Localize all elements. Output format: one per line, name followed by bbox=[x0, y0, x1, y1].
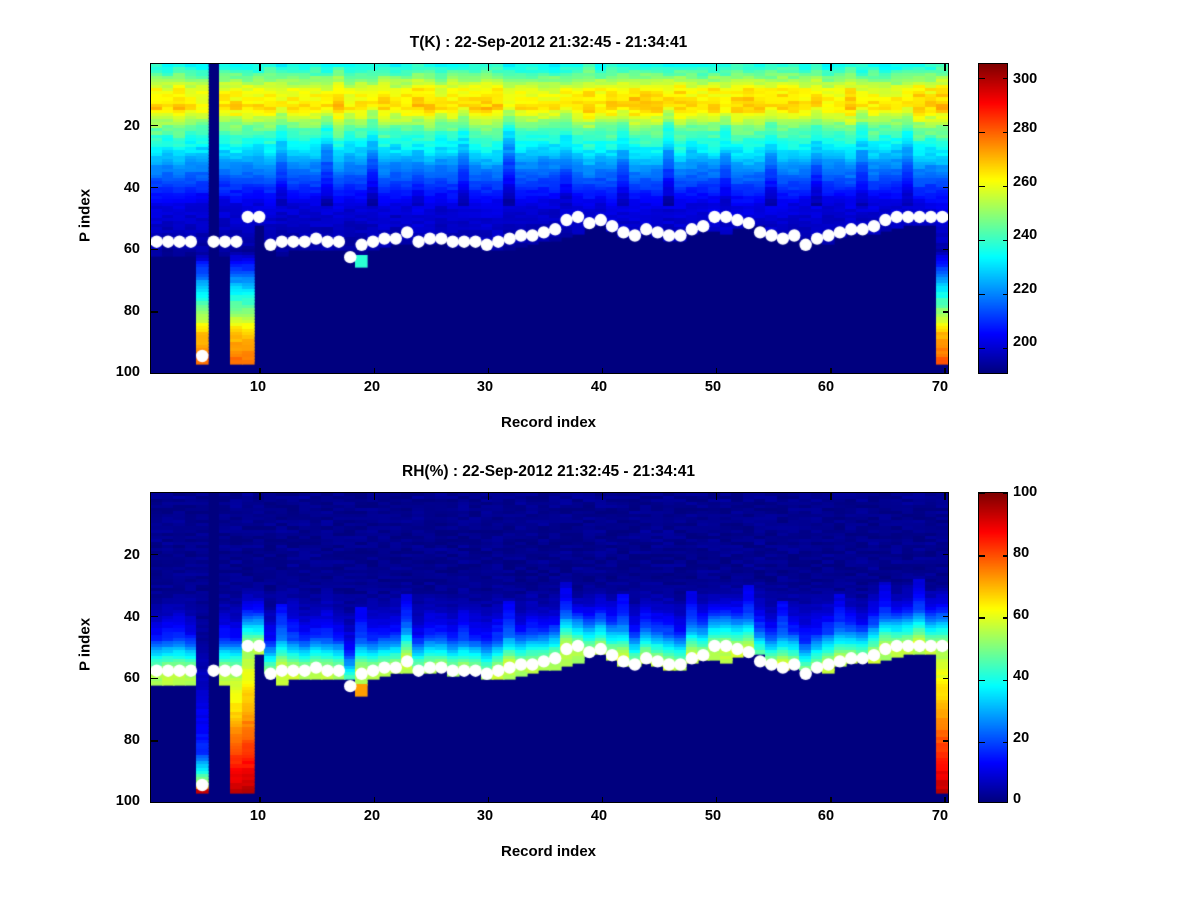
colorbar-tick-rh-2: 40 bbox=[1013, 668, 1029, 684]
x-tick-label-t-4: 50 bbox=[693, 379, 733, 395]
axis-tick bbox=[151, 616, 158, 617]
axis-tick bbox=[374, 797, 375, 803]
x-tick-label-t-1: 20 bbox=[352, 379, 392, 395]
x-tick-label-rh-0: 10 bbox=[238, 808, 278, 824]
axis-tick bbox=[259, 64, 260, 71]
axis-tick bbox=[151, 187, 158, 188]
axis-tick bbox=[943, 187, 949, 188]
colorbar-tick-mark bbox=[979, 555, 985, 556]
axis-tick bbox=[151, 125, 158, 126]
axis-tick bbox=[488, 493, 489, 500]
colorbar-temperature[interactable] bbox=[978, 63, 1008, 374]
x-axis-label-relative-humidity: Record index bbox=[150, 843, 947, 860]
axis-tick bbox=[830, 797, 831, 803]
x-axis-label-temperature: Record index bbox=[150, 414, 947, 431]
colorbar-tick-t-3: 260 bbox=[1013, 174, 1037, 190]
x-tick-label-rh-2: 30 bbox=[465, 808, 505, 824]
y-tick-label-rh-4: 100 bbox=[80, 793, 140, 809]
y-tick-label-t-4: 100 bbox=[80, 364, 140, 380]
colorbar-tick-mark bbox=[979, 186, 985, 187]
axis-tick bbox=[944, 64, 945, 71]
axis-tick bbox=[830, 64, 831, 71]
y-tick-label-t-2: 60 bbox=[88, 241, 140, 257]
colorbar-tick-mark bbox=[1003, 294, 1008, 295]
colorbar-tick-rh-5: 100 bbox=[1013, 484, 1037, 500]
axis-tick bbox=[716, 368, 717, 374]
x-tick-label-rh-4: 50 bbox=[693, 808, 733, 824]
axis-tick bbox=[259, 797, 260, 803]
axis-tick bbox=[151, 740, 158, 741]
x-tick-label-rh-3: 40 bbox=[579, 808, 619, 824]
axis-tick bbox=[943, 802, 949, 803]
axis-tick bbox=[716, 493, 717, 500]
colorbar-tick-mark bbox=[1003, 617, 1008, 618]
axis-tick bbox=[374, 64, 375, 71]
axis-tick bbox=[944, 368, 945, 374]
y-tick-label-t-3: 80 bbox=[88, 303, 140, 319]
heatmap-relative-humidity-canvas bbox=[151, 493, 948, 802]
heatmap-relative-humidity[interactable] bbox=[150, 492, 949, 803]
colorbar-tick-mark bbox=[979, 78, 985, 79]
axis-tick bbox=[716, 64, 717, 71]
x-tick-label-t-6: 70 bbox=[920, 379, 960, 395]
axis-tick bbox=[259, 368, 260, 374]
colorbar-tick-mark bbox=[979, 294, 985, 295]
axis-tick bbox=[259, 493, 260, 500]
axis-tick bbox=[151, 311, 158, 312]
colorbar-tick-mark bbox=[979, 680, 985, 681]
colorbar-relative-humidity[interactable] bbox=[978, 492, 1008, 803]
axis-tick bbox=[151, 802, 158, 803]
colorbar-tick-mark bbox=[1003, 555, 1008, 556]
colorbar-tick-mark bbox=[979, 240, 985, 241]
plot-title-temperature: T(K) : 22-Sep-2012 21:32:45 - 21:34:41 bbox=[150, 34, 947, 52]
axis-tick bbox=[830, 368, 831, 374]
colorbar-tick-mark bbox=[979, 348, 985, 349]
axis-tick bbox=[488, 368, 489, 374]
axis-tick bbox=[374, 493, 375, 500]
colorbar-tick-t-2: 240 bbox=[1013, 227, 1037, 243]
colorbar-tick-mark bbox=[979, 132, 985, 133]
plot-title-relative-humidity: RH(%) : 22-Sep-2012 21:32:45 - 21:34:41 bbox=[150, 463, 947, 481]
axis-tick bbox=[602, 797, 603, 803]
x-tick-label-t-2: 30 bbox=[465, 379, 505, 395]
axis-tick bbox=[602, 64, 603, 71]
axis-tick bbox=[943, 678, 949, 679]
y-axis-label-temperature: P index bbox=[77, 126, 94, 306]
y-tick-label-rh-2: 60 bbox=[88, 670, 140, 686]
colorbar-temperature-gradient bbox=[979, 64, 1007, 373]
x-tick-label-rh-6: 70 bbox=[920, 808, 960, 824]
axis-tick bbox=[943, 554, 949, 555]
y-tick-label-rh-3: 80 bbox=[88, 732, 140, 748]
colorbar-tick-mark bbox=[979, 742, 985, 743]
colorbar-relative-humidity-gradient bbox=[979, 493, 1007, 802]
colorbar-tick-mark bbox=[979, 493, 985, 494]
colorbar-tick-mark bbox=[1003, 742, 1008, 743]
axis-tick bbox=[151, 678, 158, 679]
axis-tick bbox=[943, 125, 949, 126]
y-tick-label-t-0: 20 bbox=[88, 118, 140, 134]
axis-tick bbox=[151, 554, 158, 555]
axis-tick bbox=[151, 373, 158, 374]
colorbar-tick-t-0: 200 bbox=[1013, 334, 1037, 350]
colorbar-tick-mark bbox=[979, 617, 985, 618]
axis-tick bbox=[602, 368, 603, 374]
axis-tick bbox=[943, 740, 949, 741]
x-tick-label-t-3: 40 bbox=[579, 379, 619, 395]
colorbar-tick-mark bbox=[1003, 186, 1008, 187]
axis-tick bbox=[943, 616, 949, 617]
colorbar-tick-t-4: 280 bbox=[1013, 120, 1037, 136]
colorbar-tick-rh-0: 0 bbox=[1013, 791, 1021, 807]
axis-tick bbox=[488, 797, 489, 803]
colorbar-tick-t-5: 300 bbox=[1013, 71, 1037, 87]
figure-canvas: T(K) : 22-Sep-2012 21:32:45 - 21:34:41 P… bbox=[0, 0, 1200, 900]
axis-tick bbox=[943, 311, 949, 312]
colorbar-tick-mark bbox=[1003, 240, 1008, 241]
heatmap-temperature[interactable] bbox=[150, 63, 949, 374]
colorbar-tick-mark bbox=[1003, 348, 1008, 349]
y-axis-label-relative-humidity: P index bbox=[77, 555, 94, 735]
colorbar-tick-rh-3: 60 bbox=[1013, 607, 1029, 623]
axis-tick bbox=[374, 368, 375, 374]
heatmap-temperature-canvas bbox=[151, 64, 948, 373]
colorbar-tick-rh-1: 20 bbox=[1013, 730, 1029, 746]
colorbar-tick-mark bbox=[1003, 493, 1008, 494]
colorbar-tick-mark bbox=[1003, 78, 1008, 79]
axis-tick bbox=[830, 493, 831, 500]
y-tick-label-rh-0: 20 bbox=[88, 547, 140, 563]
axis-tick bbox=[716, 797, 717, 803]
axis-tick bbox=[943, 373, 949, 374]
colorbar-tick-mark bbox=[1003, 680, 1008, 681]
axis-tick bbox=[602, 493, 603, 500]
axis-tick bbox=[944, 797, 945, 803]
y-tick-label-rh-1: 40 bbox=[88, 609, 140, 625]
axis-tick bbox=[944, 493, 945, 500]
y-tick-label-t-1: 40 bbox=[88, 180, 140, 196]
axis-tick bbox=[488, 64, 489, 71]
x-tick-label-rh-5: 60 bbox=[806, 808, 846, 824]
x-tick-label-rh-1: 20 bbox=[352, 808, 392, 824]
colorbar-tick-rh-4: 80 bbox=[1013, 545, 1029, 561]
axis-tick bbox=[943, 249, 949, 250]
x-tick-label-t-5: 60 bbox=[806, 379, 846, 395]
x-tick-label-t-0: 10 bbox=[238, 379, 278, 395]
colorbar-tick-mark bbox=[1003, 132, 1008, 133]
colorbar-tick-t-1: 220 bbox=[1013, 281, 1037, 297]
axis-tick bbox=[151, 249, 158, 250]
